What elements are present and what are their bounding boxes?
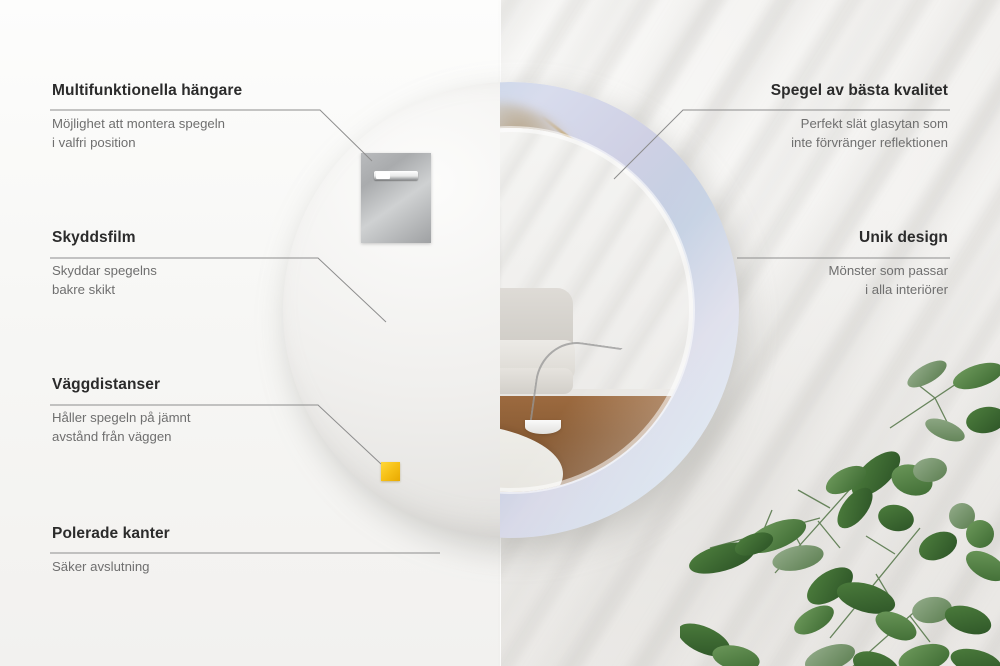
callout-title: Spegel av bästa kvalitet xyxy=(648,82,948,100)
callout-title: Polerade kanter xyxy=(52,525,392,543)
product-infographic: Multifunktionella hängare Möjlighet att … xyxy=(0,0,1000,666)
wall-spacer-pad xyxy=(381,462,400,481)
callout-unique-design: Unik design Mönster som passar i alla in… xyxy=(648,229,948,299)
callout-title: Skyddsfilm xyxy=(52,229,352,247)
callout-wall-spacers: Väggdistanser Håller spegeln på jämnt av… xyxy=(52,376,352,446)
callout-body: Perfekt slät glasytan som inte förvränge… xyxy=(648,115,948,152)
callout-polished-edges: Polerade kanter Säker avslutning xyxy=(52,525,392,577)
mounting-hanger xyxy=(361,153,431,243)
callout-body: Håller spegeln på jämnt avstånd från väg… xyxy=(52,409,352,446)
callout-hangers: Multifunktionella hängare Möjlighet att … xyxy=(52,82,352,152)
callout-body: Mönster som passar i alla interiörer xyxy=(648,262,948,299)
callout-protective-film: Skyddsfilm Skyddar spegelns bakre skikt xyxy=(52,229,352,299)
callout-body: Säker avslutning xyxy=(52,558,392,577)
callout-body: Möjlighet att montera spegeln i valfri p… xyxy=(52,115,352,152)
hanger-keyhole-slot xyxy=(374,171,418,180)
callout-title: Unik design xyxy=(648,229,948,247)
callout-mirror-quality: Spegel av bästa kvalitet Perfekt slät gl… xyxy=(648,82,948,152)
callout-title: Multifunktionella hängare xyxy=(52,82,352,100)
callout-body: Skyddar spegelns bakre skikt xyxy=(52,262,352,299)
callout-title: Väggdistanser xyxy=(52,376,352,394)
